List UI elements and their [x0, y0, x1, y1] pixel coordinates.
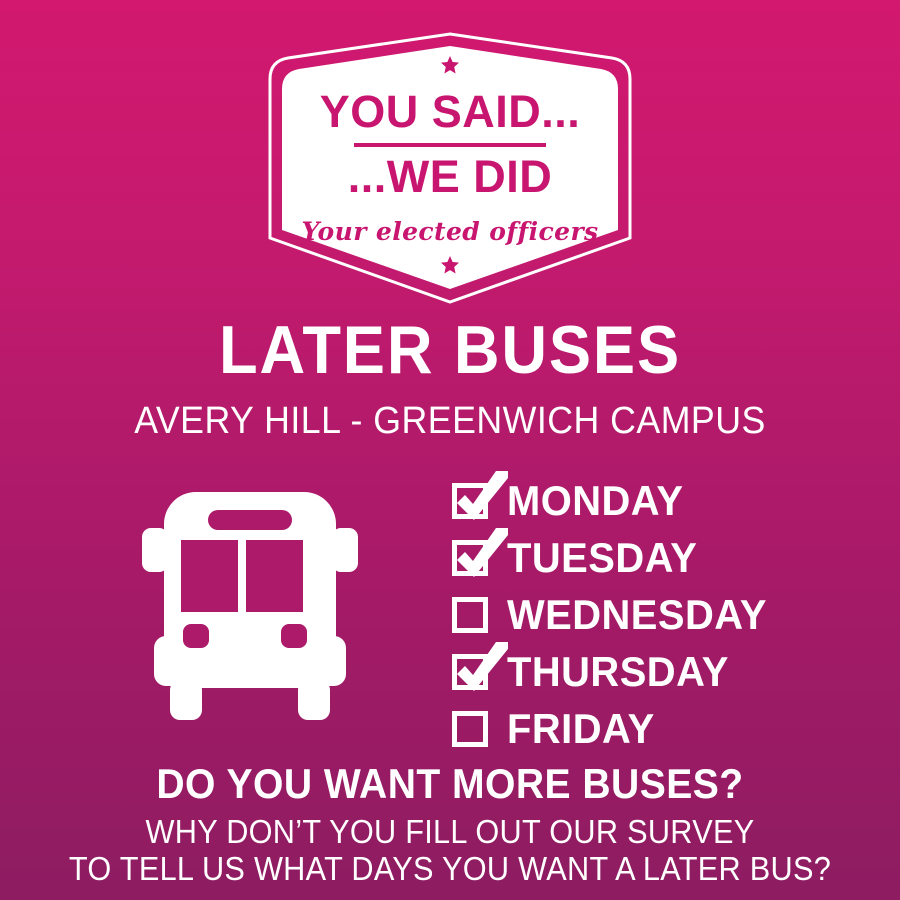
check-icon	[454, 642, 510, 694]
call-to-action-heading: DO YOU WANT MORE BUSES?	[32, 763, 869, 805]
checkbox-friday[interactable]	[452, 711, 488, 747]
check-icon	[454, 528, 510, 580]
badge-line-you-said: YOU SAID...	[320, 89, 581, 134]
poster-canvas: YOU SAID... ...WE DID Your elected offic…	[0, 0, 900, 900]
bus-window-right	[246, 540, 303, 612]
page-title: LATER BUSES	[32, 316, 869, 384]
badge-line-we-did: ...WE DID	[348, 154, 553, 199]
day-row-friday[interactable]: FRIDAY	[452, 700, 872, 757]
checkbox-tuesday[interactable]	[452, 540, 488, 576]
day-row-thursday[interactable]: THURSDAY	[452, 643, 872, 700]
badge-script-subtitle: Your elected officers	[301, 217, 598, 246]
day-label-thursday: THURSDAY	[507, 651, 729, 693]
badge-emblem: YOU SAID... ...WE DID Your elected offic…	[266, 32, 634, 304]
checkbox-thursday[interactable]	[452, 654, 488, 690]
day-label-monday: MONDAY	[507, 480, 684, 522]
bus-destination-sign	[208, 510, 292, 530]
day-row-monday[interactable]: MONDAY	[452, 472, 872, 529]
page-subtitle: AVERY HILL - GREENWICH CAMPUS	[27, 402, 873, 440]
star-top-icon	[441, 56, 459, 74]
bus-window-left	[181, 540, 238, 612]
checkbox-monday[interactable]	[452, 483, 488, 519]
day-label-tuesday: TUESDAY	[507, 537, 697, 579]
star-bottom-icon	[441, 256, 459, 274]
badge-divider-rule	[354, 143, 546, 147]
day-label-friday: FRIDAY	[507, 708, 655, 750]
day-row-tuesday[interactable]: TUESDAY	[452, 529, 872, 586]
day-checklist: MONDAY TUESDAY WEDNESDAY THURSDAY	[452, 472, 872, 757]
survey-prompt-line-1: WHY DON’T YOU FILL OUT OUR SURVEY	[32, 815, 869, 848]
day-row-wednesday[interactable]: WEDNESDAY	[452, 586, 872, 643]
bus-headlight-left	[183, 624, 209, 648]
bus-icon-shape	[142, 484, 358, 729]
bus-headlight-right	[281, 624, 307, 648]
day-label-wednesday: WEDNESDAY	[507, 594, 767, 636]
checkbox-wednesday[interactable]	[452, 597, 488, 633]
survey-prompt-line-2: TO TELL US WHAT DAYS YOU WANT A LATER BU…	[32, 852, 869, 885]
bus-front-icon	[142, 484, 358, 729]
check-icon	[454, 471, 510, 523]
